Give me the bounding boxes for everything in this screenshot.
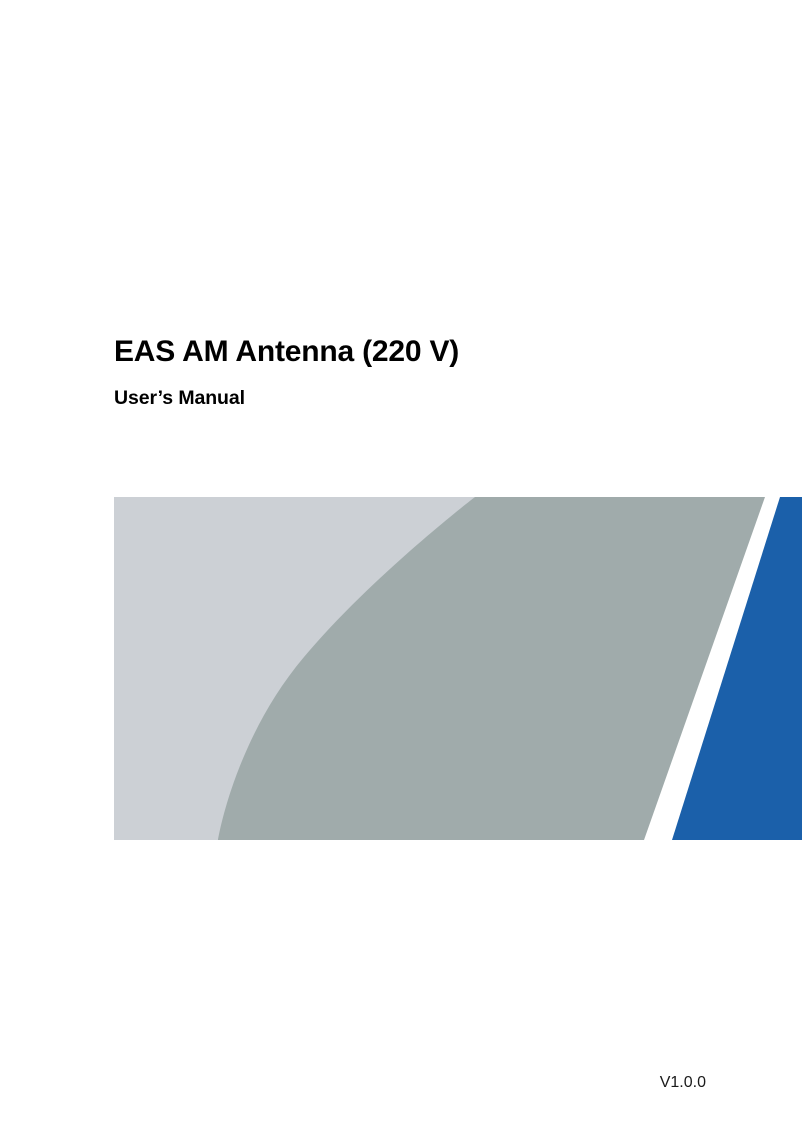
- page-subtitle: User’s Manual: [114, 385, 714, 411]
- page-title: EAS AM Antenna (220 V): [114, 332, 714, 372]
- version-label: V1.0.0: [0, 1072, 706, 1094]
- title-block: EAS AM Antenna (220 V) User’s Manual: [114, 332, 714, 411]
- cover-banner-graphic: [114, 497, 802, 840]
- cover-page: EAS AM Antenna (220 V) User’s Manual V1.…: [0, 0, 802, 1134]
- cover-banner-svg: [114, 497, 802, 840]
